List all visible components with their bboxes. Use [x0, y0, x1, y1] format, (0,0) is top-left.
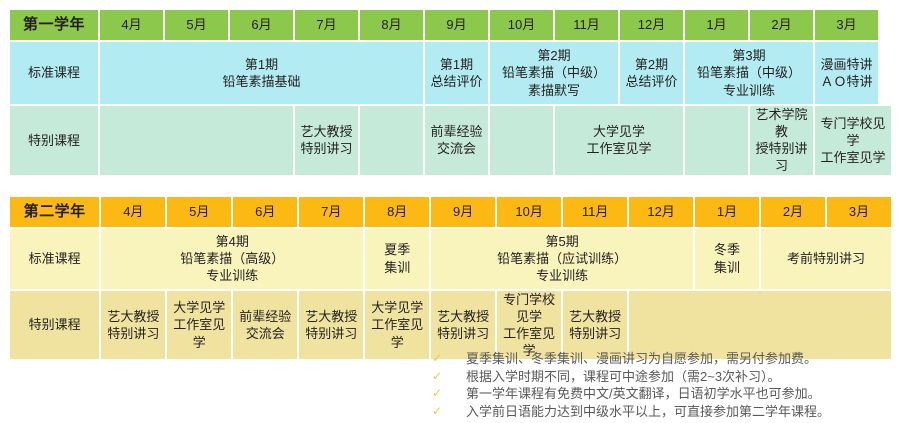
cell-line: 第2期: [620, 56, 683, 73]
year1-special-cell-8: 专门学校见学工作室见学: [815, 106, 891, 175]
cell-line: 第5期: [431, 233, 693, 250]
year1-special-row: 特别课程 艺大教授特别讲习 前辈经验交流会 大学见学工作室见学 艺术学院教授特别…: [10, 106, 891, 175]
year1-month-1: 5月: [165, 10, 228, 40]
footnote-text: 入学前日语能力达到中级水平以上，可直接参加第二学年课程。: [466, 403, 830, 421]
cell-line: 授特别讲习: [750, 140, 813, 174]
year1-standard-cell-4: 第3期铅笔素描（中级）专业训练: [685, 42, 813, 104]
cell-line: 夏季: [365, 241, 429, 258]
year2-month-6: 10月: [497, 197, 561, 227]
year2-month-10: 2月: [761, 197, 825, 227]
year2-standard-cell-2: 第5期铅笔素描（应试训练）专业训练: [431, 229, 693, 289]
year1-standard-label: 标准课程: [10, 42, 98, 104]
cell-line: 铅笔素描（中级）: [490, 64, 618, 81]
cell-line: 专业训练: [431, 267, 693, 284]
cell-line: 专门学校见学: [497, 291, 561, 325]
year2-standard-cell-3: 冬季集训: [695, 229, 759, 289]
year2-special-cell-2: 前辈经验交流会: [233, 291, 297, 360]
footnote-text: 第一学年课程有免费中文/英文翻译，日语初学水平也可参加。: [466, 385, 821, 403]
year2-month-5: 9月: [431, 197, 495, 227]
cell-line: 第1期: [100, 56, 423, 73]
year1-month-9: 1月: [685, 10, 748, 40]
year2-month-8: 12月: [629, 197, 693, 227]
year2-special-cell-4: 大学见学工作室见学: [365, 291, 429, 360]
year1-month-2: 6月: [230, 10, 293, 40]
year1-month-7: 11月: [555, 10, 618, 40]
year1-header-row: 第一学年 4月 5月 6月 7月 8月 9月 10月 11月 12月 1月 2月…: [10, 10, 891, 40]
year1-special-label: 特别课程: [10, 106, 98, 175]
year2-special-cell-3: 艺大教授特别讲习: [299, 291, 363, 360]
cell-line: 冬季: [695, 241, 759, 258]
year2-title: 第二学年: [10, 197, 99, 227]
check-icon: ✓: [424, 350, 466, 368]
footnote-text: 夏季集训、冬季集训、漫画讲习为自愿参加，需另付参加费。: [466, 350, 817, 368]
cell-line: 前辈经验: [425, 123, 488, 140]
cell-line: 专业训练: [101, 267, 363, 284]
year2-month-4: 8月: [365, 197, 429, 227]
year2-special-cell-8: [629, 291, 891, 360]
year2-standard-label: 标准课程: [10, 229, 99, 289]
year2-special-cell-0: 艺大教授特别讲习: [101, 291, 165, 360]
cell-line: 集训: [365, 259, 429, 276]
year1-special-cell-6: [685, 106, 748, 175]
cell-line: 铅笔素描（中级）: [685, 64, 813, 81]
cell-line: 漫画特讲: [815, 56, 878, 73]
cell-line: 专门学校见学: [815, 115, 891, 149]
cell-line: 总结评价: [620, 73, 683, 90]
year1-standard-cell-0: 第1期铅笔素描基础: [100, 42, 423, 104]
cell-line: 艺大教授: [299, 308, 363, 325]
year2-special-cell-1: 大学见学工作室见学: [167, 291, 231, 360]
year1-standard-cell-2: 第2期铅笔素描（中级）素描默写: [490, 42, 618, 104]
cell-line: 总结评价: [425, 73, 488, 90]
cell-line: 集训: [695, 259, 759, 276]
year2-standard-row: 标准课程 第4期铅笔素描（高级）专业训练 夏季集训 第5期铅笔素描（应试训练）专…: [10, 229, 891, 289]
year1-standard-row: 标准课程 第1期铅笔素描基础 第1期总结评价 第2期铅笔素描（中级）素描默写 第…: [10, 42, 891, 104]
cell-line: 艺大教授: [295, 123, 358, 140]
year1-month-3: 7月: [295, 10, 358, 40]
year2-month-2: 6月: [233, 197, 297, 227]
year1-special-cell-1: 艺大教授特别讲习: [295, 106, 358, 175]
year1-standard-cell-5: 漫画特讲ＡＯ特讲: [815, 42, 878, 104]
check-icon: ✓: [424, 368, 466, 386]
year1-special-cell-2: [360, 106, 423, 175]
cell-line: 第4期: [101, 233, 363, 250]
cell-line: 铅笔素描（应试训练）: [431, 250, 693, 267]
course-schedule: 第一学年 4月 5月 6月 7月 8月 9月 10月 11月 12月 1月 2月…: [8, 8, 893, 361]
footnote-item: ✓ 第一学年课程有免费中文/英文翻译，日语初学水平也可参加。: [424, 385, 894, 403]
cell-line: 特别讲习: [299, 325, 363, 342]
check-icon: ✓: [424, 403, 466, 421]
year2-standard-cell-0: 第4期铅笔素描（高级）专业训练: [101, 229, 363, 289]
cell-line: 特别讲习: [563, 325, 627, 342]
year1-special-cell-3: 前辈经验交流会: [425, 106, 488, 175]
cell-line: 前辈经验: [233, 308, 297, 325]
year2-standard-cell-4: 考前特别讲习: [761, 229, 891, 289]
year1-special-cell-5: 大学见学工作室见学: [555, 106, 683, 175]
cell-line: 工作室见学: [555, 140, 683, 157]
year1-month-0: 4月: [100, 10, 163, 40]
cell-line: ＡＯ特讲: [815, 73, 878, 90]
cell-line: 特别讲习: [295, 140, 358, 157]
cell-line: 大学见学: [167, 299, 231, 316]
cell-line: 艺大教授: [563, 308, 627, 325]
year1-standard-cell-3: 第2期总结评价: [620, 42, 683, 104]
year2-special-label: 特别课程: [10, 291, 99, 360]
cell-line: 特别讲习: [101, 325, 165, 342]
year2-special-row: 特别课程 艺大教授特别讲习 大学见学工作室见学 前辈经验交流会 艺大教授特别讲习…: [10, 291, 891, 360]
year2-month-9: 1月: [695, 197, 759, 227]
year1-title: 第一学年: [10, 10, 98, 40]
cell-line: 第2期: [490, 47, 618, 64]
cell-line: 工作室见学: [815, 149, 891, 166]
year2-month-1: 5月: [167, 197, 231, 227]
year1-month-10: 2月: [750, 10, 813, 40]
year2-month-11: 3月: [827, 197, 891, 227]
table-spacer: [8, 177, 893, 195]
cell-line: 铅笔素描（高级）: [101, 250, 363, 267]
year1-schedule-table: 第一学年 4月 5月 6月 7月 8月 9月 10月 11月 12月 1月 2月…: [8, 8, 893, 177]
cell-line: 素描默写: [490, 82, 618, 99]
cell-line: 大学见学: [555, 123, 683, 140]
year2-header-row: 第二学年 4月 5月 6月 7月 8月 9月 10月 11月 12月 1月 2月…: [10, 197, 891, 227]
cell-line: 特别讲习: [431, 325, 495, 342]
footnote-item: ✓ 入学前日语能力达到中级水平以上，可直接参加第二学年课程。: [424, 403, 894, 421]
year2-month-7: 11月: [563, 197, 627, 227]
year1-special-cell-0: [100, 106, 293, 175]
cell-line: 大学见学: [365, 299, 429, 316]
cell-line: 考前特别讲习: [761, 250, 891, 267]
footnote-text: 根据入学时期不同，课程可中途参加（需2~3次补习）。: [466, 368, 781, 386]
year2-special-cell-5: 艺大教授特别讲习: [431, 291, 495, 360]
cell-line: 艺大教授: [431, 308, 495, 325]
year2-special-cell-6: 专门学校见学工作室见学: [497, 291, 561, 360]
cell-line: 第1期: [425, 56, 488, 73]
year1-month-5: 9月: [425, 10, 488, 40]
cell-line: 艺大教授: [101, 308, 165, 325]
cell-line: 铅笔素描基础: [100, 73, 423, 90]
footnote-item: ✓ 夏季集训、冬季集训、漫画讲习为自愿参加，需另付参加费。: [424, 350, 894, 368]
year1-month-6: 10月: [490, 10, 553, 40]
footnotes: ✓ 夏季集训、冬季集训、漫画讲习为自愿参加，需另付参加费。 ✓ 根据入学时期不同…: [424, 350, 894, 420]
cell-line: 交流会: [425, 140, 488, 157]
cell-line: 工作室见学: [365, 316, 429, 350]
year1-month-4: 8月: [360, 10, 423, 40]
year1-month-8: 12月: [620, 10, 683, 40]
cell-line: 工作室见学: [167, 316, 231, 350]
check-icon: ✓: [424, 385, 466, 403]
cell-line: 交流会: [233, 325, 297, 342]
footnote-item: ✓ 根据入学时期不同，课程可中途参加（需2~3次补习）。: [424, 368, 894, 386]
cell-line: 第3期: [685, 47, 813, 64]
year1-standard-cell-1: 第1期总结评价: [425, 42, 488, 104]
year1-special-cell-4: [490, 106, 553, 175]
cell-line: 专业训练: [685, 82, 813, 99]
year2-standard-cell-1: 夏季集训: [365, 229, 429, 289]
cell-line: 艺术学院教: [750, 106, 813, 140]
year2-month-0: 4月: [101, 197, 165, 227]
year1-special-cell-7: 艺术学院教授特别讲习: [750, 106, 813, 175]
year2-special-cell-7: 艺大教授特别讲习: [563, 291, 627, 360]
year1-month-11: 3月: [815, 10, 878, 40]
year2-month-3: 7月: [299, 197, 363, 227]
year2-schedule-table: 第二学年 4月 5月 6月 7月 8月 9月 10月 11月 12月 1月 2月…: [8, 195, 893, 362]
